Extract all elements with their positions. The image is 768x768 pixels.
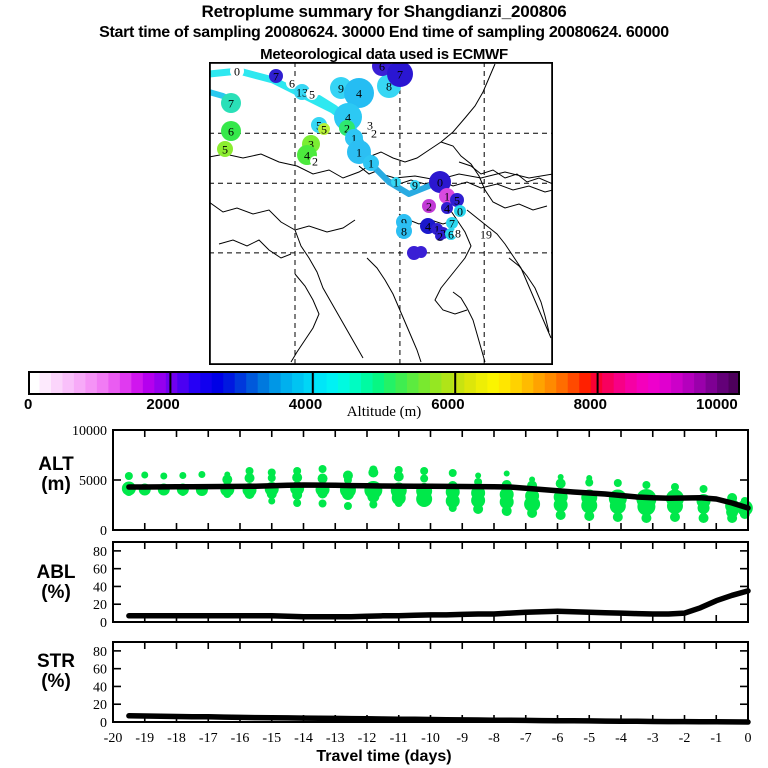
colorbar-swatch bbox=[373, 371, 385, 395]
colorbar-swatch bbox=[212, 371, 224, 395]
page-title: Retroplume summary for Shangdianzi_20080… bbox=[0, 2, 768, 22]
cluster-marker: 1 bbox=[363, 155, 379, 171]
scatter-point bbox=[473, 504, 483, 514]
cluster-label: 8 bbox=[455, 227, 461, 241]
x-tick-label: -15 bbox=[262, 731, 281, 746]
y-tick-label: 10000 bbox=[72, 424, 107, 439]
colorbar-swatch bbox=[614, 371, 626, 395]
alt-chart: 1000050000 bbox=[0, 424, 768, 536]
colorbar-swatch bbox=[143, 371, 155, 395]
x-tick-label: -4 bbox=[615, 731, 627, 746]
y-tick-label: 60 bbox=[93, 663, 107, 678]
cluster-marker: 7 bbox=[387, 62, 413, 87]
colorbar-swatch bbox=[533, 371, 545, 395]
cluster-marker: 8 bbox=[396, 223, 412, 239]
scatter-point bbox=[245, 489, 255, 499]
scatter-point bbox=[318, 474, 328, 484]
scatter-point bbox=[584, 511, 594, 521]
y-tick-label: 40 bbox=[93, 680, 107, 695]
cluster-label: 1 bbox=[368, 157, 374, 171]
cluster-label: 9 bbox=[412, 179, 418, 193]
colorbar-swatch bbox=[235, 371, 247, 395]
y-tick-label: 5000 bbox=[79, 474, 107, 489]
colorbar-swatch bbox=[154, 371, 166, 395]
cluster-label: 19 bbox=[480, 228, 492, 242]
cluster-label: 9 bbox=[338, 82, 344, 96]
retroplume-map[interactable]: 0761357659486742553432111210915240984136… bbox=[209, 62, 553, 365]
scatter-point bbox=[613, 512, 623, 522]
colorbar-swatch bbox=[556, 371, 568, 395]
scatter-point bbox=[586, 475, 592, 481]
colorbar-swatch bbox=[361, 371, 373, 395]
y-tick-label: 80 bbox=[93, 645, 107, 660]
scatter-point bbox=[318, 489, 328, 499]
map-background bbox=[209, 62, 553, 365]
colorbar-swatch bbox=[269, 371, 281, 395]
scatter-point bbox=[700, 485, 708, 493]
cluster-label: 6 bbox=[228, 125, 234, 139]
y-tick-label: 0 bbox=[100, 524, 107, 536]
str-panel[interactable]: 806040200-20-19-18-17-16-15-14-13-12-11-… bbox=[0, 636, 768, 748]
scatter-point bbox=[614, 479, 622, 487]
colorbar-title: Altitude (m) bbox=[0, 404, 768, 421]
scatter-point bbox=[246, 467, 254, 475]
scatter-point bbox=[293, 499, 301, 507]
cluster-label: 2 bbox=[312, 155, 318, 169]
x-tick-label: -19 bbox=[135, 731, 154, 746]
scatter-point bbox=[369, 466, 377, 474]
cluster-label: 8 bbox=[401, 225, 407, 239]
cluster-label: 4 bbox=[425, 220, 431, 234]
colorbar-swatch bbox=[464, 371, 476, 395]
scatter-point bbox=[529, 477, 535, 483]
scatter-point bbox=[420, 467, 428, 475]
y-tick-label: 0 bbox=[100, 616, 107, 631]
y-tick-label: 0 bbox=[100, 716, 107, 731]
scatter-point bbox=[699, 513, 709, 523]
colorbar-swatch bbox=[671, 371, 683, 395]
abl-chart: 806040200 bbox=[0, 536, 768, 636]
scatter-point bbox=[610, 498, 626, 514]
cluster-label: 2 bbox=[437, 230, 443, 244]
cluster-label: 1 bbox=[393, 176, 399, 190]
y-tick-labels: 806040200 bbox=[93, 545, 107, 631]
cluster-marker: 7 bbox=[221, 93, 241, 113]
scatter-point bbox=[141, 472, 148, 479]
abl-panel[interactable]: 806040200 bbox=[0, 536, 768, 636]
cluster-label: 4 bbox=[356, 87, 362, 101]
x-tick-label: -11 bbox=[390, 731, 408, 746]
scatter-point bbox=[268, 498, 275, 505]
y-tick-label: 40 bbox=[93, 580, 107, 595]
colorbar-swatch bbox=[51, 371, 63, 395]
cluster-label: 4 bbox=[304, 149, 310, 163]
colorbar-swatch bbox=[258, 371, 270, 395]
scatter-point bbox=[319, 500, 327, 508]
map-canvas: 0761357659486742553432111210915240984136… bbox=[209, 62, 553, 365]
scatter-point bbox=[342, 488, 354, 500]
y-tick-labels: 1000050000 bbox=[72, 424, 107, 536]
cluster-dot bbox=[415, 246, 427, 258]
colorbar-swatch bbox=[246, 371, 258, 395]
cluster-label: 2 bbox=[371, 127, 377, 141]
colorbar-swatch bbox=[694, 371, 706, 395]
x-tick-label: -14 bbox=[294, 731, 313, 746]
scatter-point bbox=[556, 510, 566, 520]
scatter-point bbox=[527, 508, 537, 518]
cluster-label: 1 bbox=[356, 146, 362, 160]
cluster-label: 6 bbox=[289, 77, 295, 91]
colorbar-swatch bbox=[430, 371, 442, 395]
cluster-label: 0 bbox=[457, 205, 463, 219]
sampling-time-line: Start time of sampling 20080624. 30000 E… bbox=[0, 24, 768, 42]
scatter-point bbox=[727, 513, 737, 523]
x-tick-labels: -20-19-18-17-16-15-14-13-12-11-10-9-8-7-… bbox=[104, 731, 752, 746]
colorbar-swatch bbox=[660, 371, 672, 395]
colorbar-swatch bbox=[223, 371, 235, 395]
cluster-label: 2 bbox=[426, 200, 432, 214]
scatter-point bbox=[449, 469, 457, 477]
x-tick-label: -12 bbox=[358, 731, 377, 746]
x-axis-title: Travel time (days) bbox=[0, 748, 768, 766]
str-chart: 806040200-20-19-18-17-16-15-14-13-12-11-… bbox=[0, 636, 768, 748]
scatter-point bbox=[369, 501, 377, 509]
cluster-label: 7 bbox=[397, 68, 403, 82]
x-tick-label: -2 bbox=[679, 731, 691, 746]
colorbar-swatch bbox=[39, 371, 51, 395]
scatter-point bbox=[502, 506, 512, 516]
x-tick-label: -17 bbox=[199, 731, 218, 746]
plot-background bbox=[113, 430, 748, 530]
colorbar-gradient bbox=[28, 371, 740, 395]
colorbar-swatch bbox=[499, 371, 511, 395]
y-tick-label: 20 bbox=[93, 598, 107, 613]
colorbar-swatch bbox=[648, 371, 660, 395]
scatter-point bbox=[671, 483, 679, 491]
x-tick-label: -7 bbox=[520, 731, 532, 746]
colorbar-swatch bbox=[395, 371, 407, 395]
scatter-point bbox=[420, 475, 428, 483]
colorbar-swatch bbox=[637, 371, 649, 395]
scatter-point bbox=[268, 469, 276, 477]
colorbar-swatch bbox=[384, 371, 396, 395]
colorbar-swatch bbox=[281, 371, 293, 395]
colorbar-swatch bbox=[108, 371, 120, 395]
cluster-label: 7 bbox=[273, 70, 279, 84]
colorbar-swatch bbox=[74, 371, 86, 395]
scatter-point bbox=[293, 467, 301, 475]
scatter-point bbox=[160, 473, 167, 480]
scatter-point bbox=[292, 490, 302, 500]
plot-background bbox=[113, 642, 748, 722]
colorbar-swatch bbox=[166, 371, 178, 395]
scatter-point bbox=[319, 465, 327, 473]
colorbar-swatch bbox=[418, 371, 430, 395]
cluster-label: 5 bbox=[309, 88, 315, 102]
colorbar-swatch bbox=[292, 371, 304, 395]
meteorological-data-line: Meteorological data used is ECMWF bbox=[0, 46, 768, 63]
colorbar-swatch bbox=[602, 371, 614, 395]
colorbar-swatch bbox=[407, 371, 419, 395]
colorbar-swatch bbox=[85, 371, 97, 395]
scatter-point bbox=[179, 472, 186, 479]
cluster-marker: 6 bbox=[221, 121, 241, 141]
x-tick-label: -8 bbox=[488, 731, 500, 746]
colorbar-swatch bbox=[131, 371, 143, 395]
colorbar-swatch bbox=[545, 371, 557, 395]
scatter-point bbox=[554, 498, 568, 512]
colorbar-swatch bbox=[522, 371, 534, 395]
scatter-point bbox=[395, 499, 403, 507]
y-tick-label: 80 bbox=[93, 545, 107, 560]
scatter-point bbox=[504, 471, 510, 477]
x-tick-label: -6 bbox=[552, 731, 564, 746]
colorbar-swatch bbox=[327, 371, 339, 395]
x-tick-label: -13 bbox=[326, 731, 345, 746]
x-tick-label: -9 bbox=[456, 731, 468, 746]
cluster-marker: 5 bbox=[217, 141, 233, 157]
scatter-point bbox=[449, 504, 457, 512]
colorbar-swatch bbox=[717, 371, 729, 395]
colorbar-swatch bbox=[189, 371, 201, 395]
colorbar-swatch bbox=[120, 371, 132, 395]
scatter-point bbox=[670, 512, 680, 522]
colorbar-swatch bbox=[350, 371, 362, 395]
alt-panel[interactable]: 1000050000 bbox=[0, 424, 768, 536]
colorbar-swatch bbox=[487, 371, 499, 395]
colorbar-swatch bbox=[338, 371, 350, 395]
colorbar-swatch bbox=[706, 371, 718, 395]
x-tick-label: 0 bbox=[745, 731, 752, 746]
colorbar-swatch bbox=[625, 371, 637, 395]
scatter-point bbox=[558, 474, 564, 480]
colorbar-swatch bbox=[62, 371, 74, 395]
scatter-point bbox=[224, 472, 230, 478]
x-tick-label: -3 bbox=[647, 731, 659, 746]
colorbar-swatch bbox=[568, 371, 580, 395]
x-tick-label: -16 bbox=[231, 731, 250, 746]
colorbar-swatch bbox=[579, 371, 591, 395]
scatter-point bbox=[475, 473, 481, 479]
scatter-point bbox=[344, 502, 352, 510]
scatter-point bbox=[642, 481, 650, 489]
scatter-point bbox=[180, 490, 186, 496]
x-tick-label: -10 bbox=[421, 731, 440, 746]
scatter-point bbox=[698, 502, 710, 514]
y-tick-label: 20 bbox=[93, 698, 107, 713]
x-tick-label: -20 bbox=[104, 731, 123, 746]
colorbar-swatch bbox=[200, 371, 212, 395]
cluster-marker bbox=[415, 246, 427, 258]
scatter-point bbox=[223, 490, 231, 498]
cluster-marker: 19 bbox=[480, 228, 492, 242]
altitude-colorbar[interactable] bbox=[28, 371, 740, 395]
y-tick-labels: 806040200 bbox=[93, 645, 107, 731]
x-tick-label: -1 bbox=[710, 731, 722, 746]
colorbar-swatch bbox=[510, 371, 522, 395]
cluster-label: 4 bbox=[444, 202, 450, 216]
scatter-point bbox=[416, 491, 432, 507]
colorbar-swatch bbox=[441, 371, 453, 395]
scatter-point bbox=[641, 513, 651, 523]
scatter-point bbox=[125, 472, 133, 480]
plot-background bbox=[113, 542, 748, 622]
cluster-label: 0 bbox=[234, 65, 240, 79]
scatter-point bbox=[395, 466, 403, 474]
y-tick-label: 60 bbox=[93, 563, 107, 578]
colorbar-swatch bbox=[683, 371, 695, 395]
x-tick-label: -18 bbox=[167, 731, 186, 746]
cluster-label: 5 bbox=[222, 143, 228, 157]
colorbar-swatch bbox=[315, 371, 327, 395]
cluster-label: 7 bbox=[228, 97, 234, 111]
colorbar-swatch bbox=[177, 371, 189, 395]
scatter-point bbox=[198, 471, 205, 478]
cluster-label: 5 bbox=[321, 123, 327, 137]
x-tick-label: -5 bbox=[583, 731, 595, 746]
colorbar-swatch bbox=[97, 371, 109, 395]
colorbar-swatch bbox=[476, 371, 488, 395]
cluster-label: 0 bbox=[437, 176, 443, 190]
